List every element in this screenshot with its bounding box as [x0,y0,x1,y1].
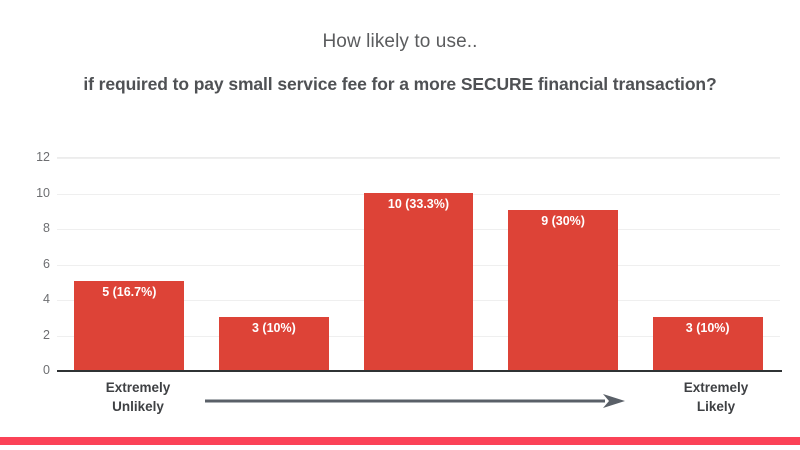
bottom-accent-bar [0,437,800,445]
y-axis-tick-label: 8 [4,221,50,235]
bar-value-label: 3 (10%) [219,321,329,335]
bar[interactable]: 9 (30%) [508,210,618,370]
likert-scale-footer: Extremely Unlikely Extremely Likely [0,378,800,428]
y-axis-tick-label: 0 [4,363,50,377]
x-axis-line [57,370,782,372]
scale-label-unlikely-line2: Unlikely [63,397,213,416]
scale-label-likely: Extremely Likely [641,378,791,416]
bar-chart: 024681012 5 (16.7%)3 (10%)10 (33.3%)9 (3… [0,150,800,382]
bar[interactable]: 3 (10%) [653,317,763,370]
bar-series: 5 (16.7%)3 (10%)10 (33.3%)9 (30%)3 (10%) [57,157,780,370]
scale-label-unlikely: Extremely Unlikely [63,378,213,416]
y-axis-tick-label: 2 [4,328,50,342]
scale-label-likely-line1: Extremely [641,378,791,397]
bar-slot: 10 (33.3%) [346,157,491,370]
bar-slot: 5 (16.7%) [57,157,202,370]
page-title: How likely to use.. [0,31,800,53]
right-arrow-icon [205,393,625,409]
page-subtitle: if required to pay small service fee for… [0,74,800,95]
bar-slot: 9 (30%) [491,157,636,370]
y-axis-tick-label: 4 [4,292,50,306]
slide-canvas: How likely to use.. if required to pay s… [0,0,800,450]
bar-slot: 3 (10%) [202,157,347,370]
bar[interactable]: 5 (16.7%) [74,281,184,370]
y-axis-tick-label: 12 [4,150,50,164]
y-axis-tick-label: 10 [4,186,50,200]
bar-value-label: 5 (16.7%) [74,285,184,299]
bar[interactable]: 3 (10%) [219,317,329,370]
bar-value-label: 3 (10%) [653,321,763,335]
bar-value-label: 10 (33.3%) [364,197,474,211]
y-axis-tick-label: 6 [4,257,50,271]
y-axis-labels: 024681012 [0,157,50,370]
bar[interactable]: 10 (33.3%) [364,193,474,371]
bar-slot: 3 (10%) [635,157,780,370]
bar-value-label: 9 (30%) [508,214,618,228]
scale-label-likely-line2: Likely [641,397,791,416]
scale-label-unlikely-line1: Extremely [63,378,213,397]
